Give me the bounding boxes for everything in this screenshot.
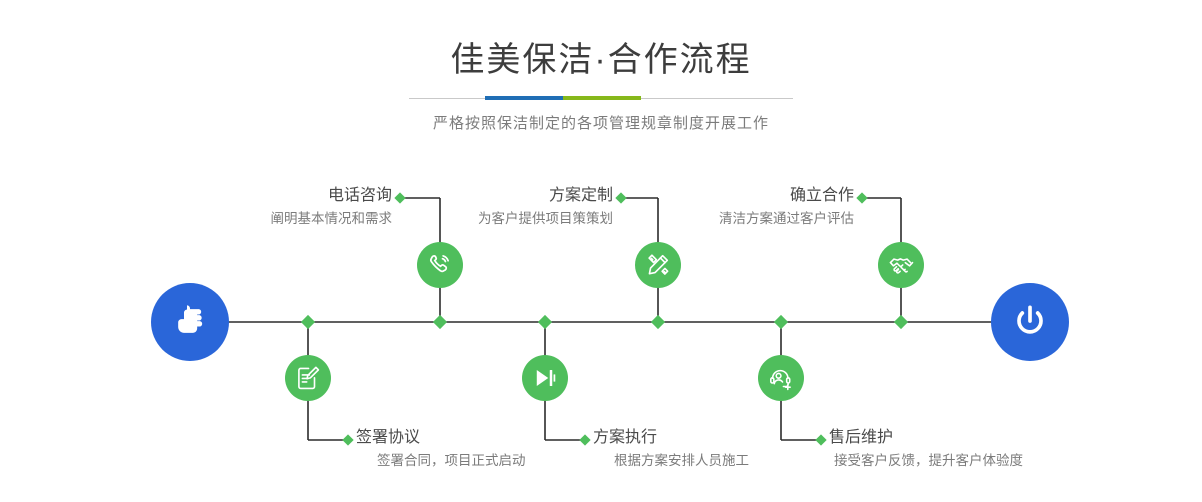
node-circle-aftersales[interactable]	[758, 355, 804, 401]
customer-service-add-icon	[768, 365, 795, 392]
node-circle-phone[interactable]	[417, 242, 463, 288]
step-label-bottom-3: 售后维护 接受客户反馈，提升客户体验度	[829, 428, 1089, 471]
step-label-top-1: 电话咨询 阐明基本情况和需求	[160, 186, 392, 229]
flow-diagram-page: 佳美保洁·合作流程 严格按照保洁制定的各项管理规章制度开展工作	[0, 0, 1202, 502]
step-desc: 清洁方案通过客户评估	[622, 209, 854, 229]
node-circle-handshake[interactable]	[878, 242, 924, 288]
step-desc: 为客户提供项目策策划	[381, 209, 613, 229]
play-forward-icon	[532, 365, 558, 391]
handshake-icon	[888, 252, 915, 279]
step-desc: 阐明基本情况和需求	[160, 209, 392, 229]
step-desc: 接受客户反馈，提升客户体验度	[834, 451, 1089, 471]
step-title: 方案定制	[381, 186, 613, 206]
process-flow-diagram: 电话咨询 阐明基本情况和需求 方案定制 为客户提供项目策策划 确立合作 清洁方案…	[0, 0, 1202, 502]
phone-call-icon	[427, 252, 453, 278]
start-endpoint[interactable]	[151, 283, 229, 361]
node-circle-sign[interactable]	[285, 355, 331, 401]
step-title: 方案执行	[593, 428, 843, 448]
step-title: 确立合作	[622, 186, 854, 206]
step-label-top-2: 方案定制 为客户提供项目策策划	[381, 186, 613, 229]
end-endpoint[interactable]	[991, 283, 1069, 361]
pencil-ruler-icon	[645, 252, 671, 278]
step-desc: 签署合同，项目正式启动	[377, 451, 606, 471]
document-sign-icon	[295, 365, 321, 391]
node-circle-execute[interactable]	[522, 355, 568, 401]
node-circle-plan[interactable]	[635, 242, 681, 288]
step-title: 签署协议	[356, 428, 606, 448]
connector-lines	[0, 0, 1202, 502]
step-desc: 根据方案安排人员施工	[614, 451, 843, 471]
power-icon	[1010, 302, 1050, 342]
label-diamond-markers	[342, 192, 867, 445]
step-label-top-3: 确立合作 清洁方案通过客户评估	[622, 186, 854, 229]
step-title: 电话咨询	[160, 186, 392, 206]
step-label-bottom-1: 签署协议 签署合同，项目正式启动	[356, 428, 606, 471]
step-label-bottom-2: 方案执行 根据方案安排人员施工	[593, 428, 843, 471]
hand-pointing-icon	[170, 302, 210, 342]
step-title: 售后维护	[829, 428, 1089, 448]
